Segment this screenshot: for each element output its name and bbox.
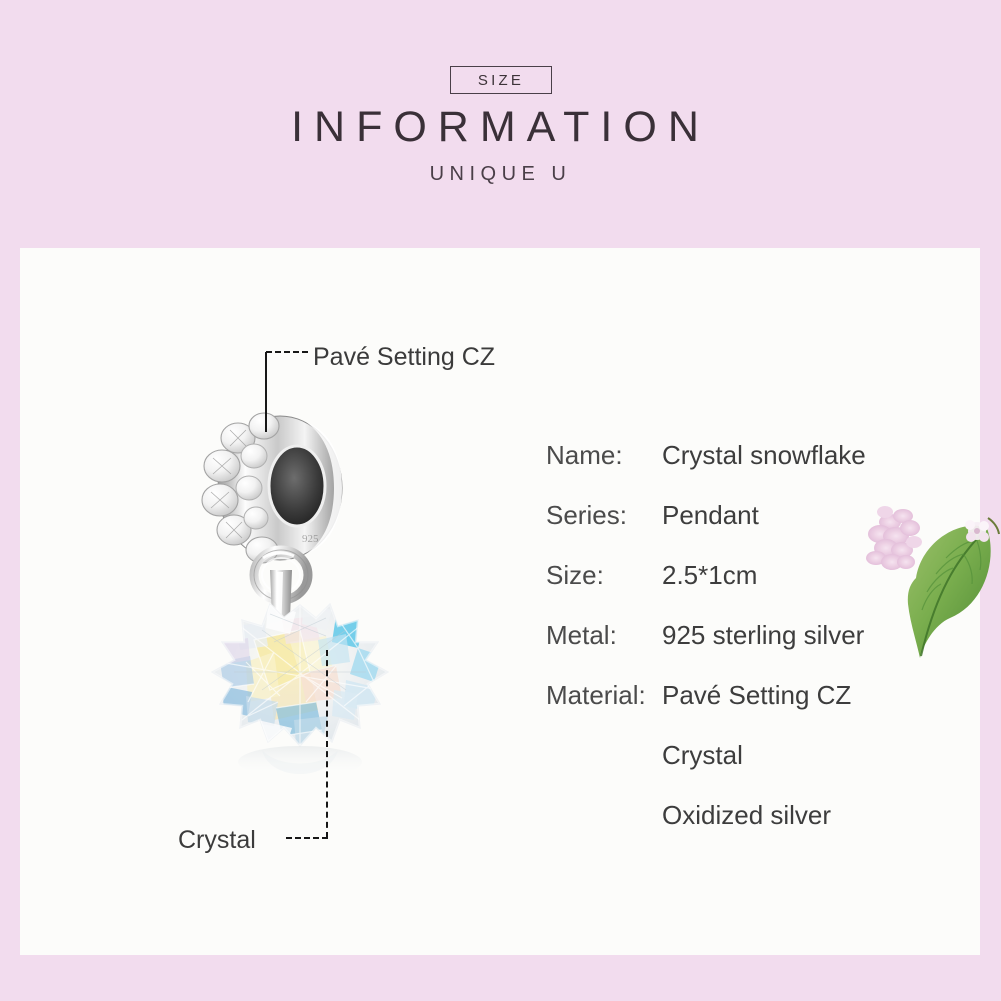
spec-row-size: Size: 2.5*1cm xyxy=(526,560,946,620)
spec-row-material-3: Oxidized silver xyxy=(526,800,946,860)
spec-row-name: Name: Crystal snowflake xyxy=(526,440,946,500)
spec-row-material-2: Crystal xyxy=(526,740,946,800)
callout-label-pave-setting-cz: Pavé Setting CZ xyxy=(313,343,495,372)
spec-value-size: 2.5*1cm xyxy=(662,560,757,591)
spec-value-metal: 925 sterling silver xyxy=(662,620,864,651)
page-subtitle: UNIQUE U xyxy=(0,163,1001,186)
callout-leader-line-crystal-vertical xyxy=(326,650,328,838)
callout-label-crystal: Crystal xyxy=(178,826,256,855)
aurora-crystal-snowflake xyxy=(212,602,388,746)
spec-value-name: Crystal snowflake xyxy=(662,440,866,471)
page-title: INFORMATION xyxy=(0,104,1001,150)
product-spec-list: Name: Crystal snowflake Series: Pendant … xyxy=(526,440,946,860)
svg-text:925: 925 xyxy=(302,533,319,545)
header: SIZE INFORMATION UNIQUE U xyxy=(0,0,1001,248)
spec-row-metal: Metal: 925 sterling silver xyxy=(526,620,946,680)
spec-row-series: Series: Pendant xyxy=(526,500,946,560)
callout-leader-line-pave-vertical xyxy=(265,352,267,432)
spec-label-name: Name: xyxy=(546,440,623,471)
spec-value-material: Pavé Setting CZ xyxy=(662,680,851,711)
product-image-crystal-snowflake-pendant: 925 xyxy=(150,390,450,860)
callout-leader-line-crystal-horizontal xyxy=(286,837,328,839)
spec-value-material-3: Oxidized silver xyxy=(662,800,831,831)
size-badge: SIZE xyxy=(450,66,552,94)
spec-row-material: Material: Pavé Setting CZ xyxy=(526,680,946,740)
spec-value-series: Pendant xyxy=(662,500,759,531)
spec-label-series: Series: xyxy=(546,500,627,531)
spec-label-size: Size: xyxy=(546,560,604,591)
spec-label-material: Material: xyxy=(546,680,646,711)
spec-label-metal: Metal: xyxy=(546,620,617,651)
callout-leader-line-pave-horizontal xyxy=(266,351,308,353)
pave-cz-bail: 925 xyxy=(202,413,342,563)
spec-value-material-2: Crystal xyxy=(662,740,743,771)
